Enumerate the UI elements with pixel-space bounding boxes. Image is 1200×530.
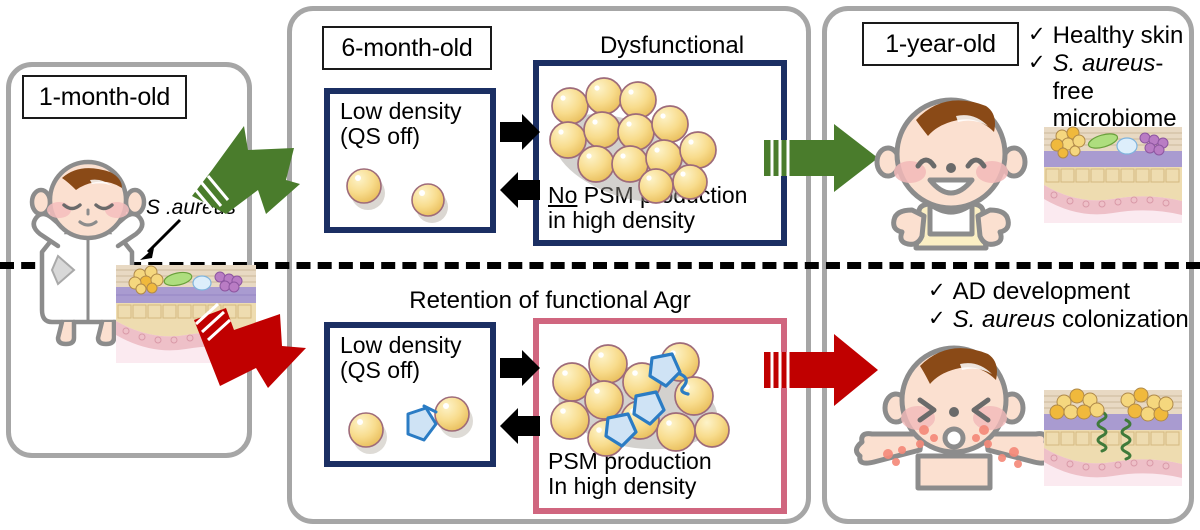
black-right-arrow-icon <box>500 114 540 150</box>
skin-cross-section-healthy <box>1044 127 1182 223</box>
list-item: ✓ S. aureus-freemicrobiome <box>1028 50 1200 133</box>
low-density-cells-top <box>334 158 484 224</box>
list-item: ✓ Healthy skin <box>1028 22 1200 50</box>
checklist-item-suffix: colonization <box>1055 306 1188 333</box>
equilibrium-arrows-top <box>498 112 542 217</box>
list-item: ✓ AD development <box>928 278 1200 306</box>
low-density-cells-with-psm <box>332 392 484 456</box>
baby-crying-rash-illustration <box>852 338 1056 500</box>
checklist-item-healthy-skin: Healthy skin <box>1053 22 1184 50</box>
label-low-density-top: Low density (QS off) <box>340 99 461 150</box>
green-arrow-to-healthy-outcome-icon <box>760 122 882 194</box>
figure-canvas: 1-month-old <box>0 0 1200 530</box>
title-retention-functional-agr: Retention of functional Agr <box>300 288 800 315</box>
high-density-cluster-with-psm <box>546 334 742 464</box>
checklist-item-ad-development: AD development <box>953 278 1130 306</box>
checklist-healthy-outcome: ✓ Healthy skin ✓ S. aureus-freemicrobiom… <box>1028 22 1200 133</box>
label-low-density-bottom: Low density (QS off) <box>340 333 461 384</box>
species-name-s-aureus: S. aureus <box>1053 50 1156 77</box>
check-icon: ✓ <box>928 306 946 332</box>
red-arrow-disease-path-icon <box>182 302 314 402</box>
pointer-arrow-icon <box>136 218 186 260</box>
green-arrow-healthy-path-icon <box>182 118 306 220</box>
black-left-arrow-icon <box>500 172 540 208</box>
label-6-month-old: 6-month-old <box>322 26 492 70</box>
psm-pentagon-icon <box>408 408 436 440</box>
black-left-arrow-icon <box>500 408 540 444</box>
check-icon: ✓ <box>1028 22 1046 48</box>
species-name-s-aureus: S. aureus <box>953 306 1056 333</box>
checklist-item-saureus-colonization: S. aureus colonization <box>953 306 1189 334</box>
label-1-month-old: 1-month-old <box>22 75 187 119</box>
check-icon: ✓ <box>1028 50 1046 76</box>
check-icon: ✓ <box>928 278 946 304</box>
label-1-year-old: 1-year-old <box>862 22 1019 66</box>
black-right-arrow-icon <box>500 350 540 386</box>
equilibrium-arrows-bottom <box>498 348 542 453</box>
skin-cross-section-colonized <box>1044 390 1182 486</box>
list-item: ✓ S. aureus colonization <box>928 306 1200 334</box>
checklist-disease-outcome: ✓ AD development ✓ S. aureus colonizatio… <box>928 278 1200 334</box>
high-density-cluster-top <box>546 80 736 200</box>
baby-happy-illustration <box>868 84 1034 256</box>
checklist-item-saureus-free: S. aureus-freemicrobiome <box>1053 50 1200 133</box>
